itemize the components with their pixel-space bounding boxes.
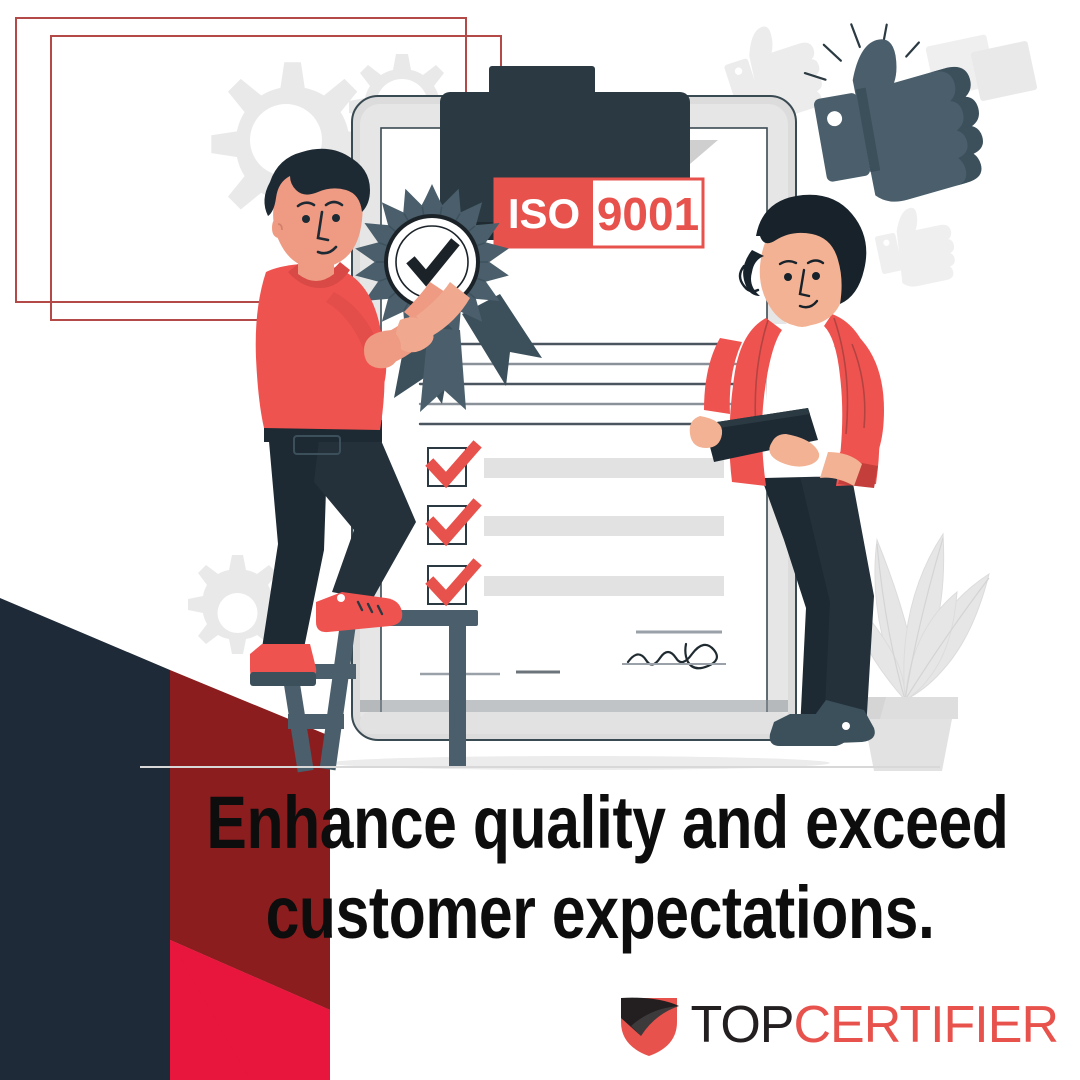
headline: Enhance quality and exceed customer expe… bbox=[206, 778, 993, 959]
logo-wordmark: TOPCERTIFIER bbox=[691, 999, 1058, 1051]
shield-check-logo-icon bbox=[617, 992, 681, 1058]
poster-canvas: ISO 9001 bbox=[0, 0, 1080, 1080]
logo-top-text: TOP bbox=[691, 996, 794, 1054]
thumbs-up-faded-bottom bbox=[870, 201, 960, 293]
iso-badge: ISO 9001 bbox=[495, 179, 703, 247]
plant-pot bbox=[864, 719, 952, 771]
headline-line-2: customer expectations. bbox=[206, 868, 993, 958]
headline-line-1: Enhance quality and exceed bbox=[206, 778, 993, 868]
iso-number-label: 9001 bbox=[597, 188, 699, 240]
brand-logo[interactable]: TOPCERTIFIER bbox=[617, 992, 1058, 1058]
logo-certifier-text: CERTIFIER bbox=[793, 996, 1058, 1054]
illustration: ISO 9001 bbox=[0, 0, 1080, 790]
thumbs-up-highlight bbox=[788, 0, 998, 220]
iso-label: ISO bbox=[508, 190, 580, 237]
